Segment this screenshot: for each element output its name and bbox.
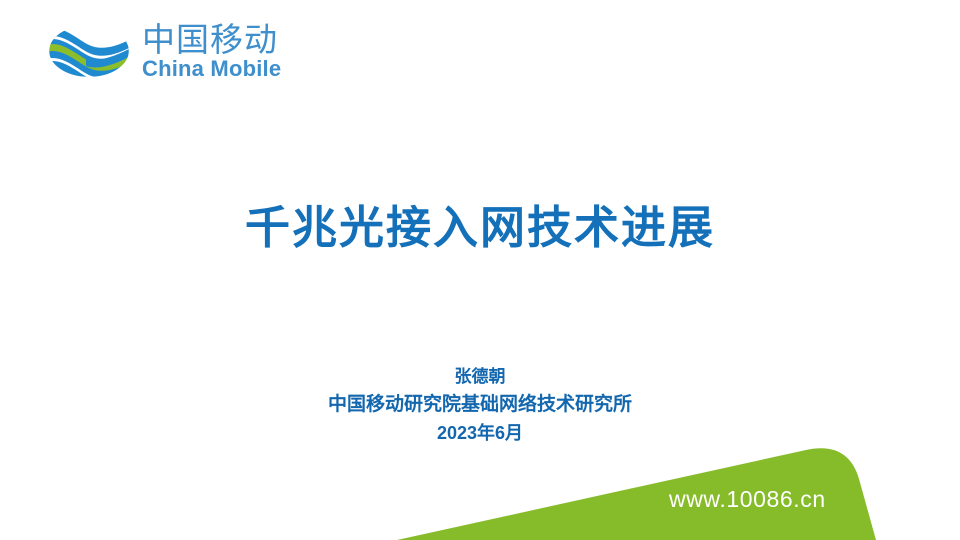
footer-website-url: www.10086.cn [669, 486, 826, 513]
brand-name-cn: 中国移动 [142, 23, 281, 57]
presentation-date: 2023年6月 [0, 420, 960, 448]
presenter-organization: 中国移动研究院基础网络技术研究所 [0, 390, 960, 419]
brand-logo: 中国移动 China Mobile [46, 19, 306, 83]
brand-name-en: China Mobile [142, 57, 281, 81]
presenter-block: 张德朝 中国移动研究院基础网络技术研究所 2023年6月 [0, 364, 960, 448]
china-mobile-logo-mark [46, 22, 132, 80]
presenter-name: 张德朝 [0, 364, 960, 390]
brand-wordmark: 中国移动 China Mobile [142, 21, 281, 82]
slide-title: 千兆光接入网技术进展 [0, 203, 960, 253]
title-slide: 中国移动 China Mobile 千兆光接入网技术进展 张德朝 中国移动研究院… [0, 0, 960, 540]
